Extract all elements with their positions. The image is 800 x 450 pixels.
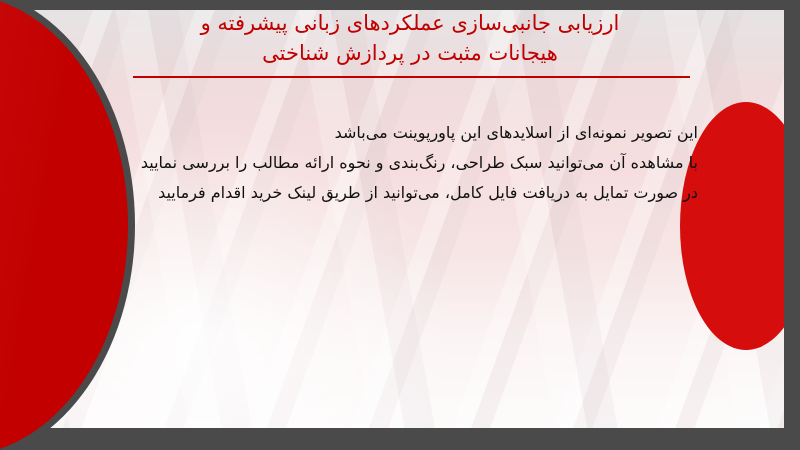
body-line-3: در صورت تمایل به دریافت فایل کامل، می‌تو… <box>118 178 698 208</box>
body-line-1: این تصویر نمونه‌ای از اسلایدهای این پاور… <box>118 118 698 148</box>
slide-title: ارزیابی جانبی‌سازی عملکردهای زبانی پیشرف… <box>110 8 710 68</box>
slide-body-text: این تصویر نمونه‌ای از اسلایدهای این پاور… <box>118 118 698 208</box>
slide-canvas: ارزیابی جانبی‌سازی عملکردهای زبانی پیشرف… <box>0 0 800 450</box>
red-ellipse-left-icon <box>0 0 128 450</box>
title-line-2: هیجانات مثبت در پردازش شناختی <box>110 38 710 68</box>
body-line-2: با مشاهده آن می‌توانید سبک طراحی، رنگ‌بن… <box>118 148 698 178</box>
title-underline-divider <box>133 76 690 78</box>
title-line-1: ارزیابی جانبی‌سازی عملکردهای زبانی پیشرف… <box>110 8 710 38</box>
